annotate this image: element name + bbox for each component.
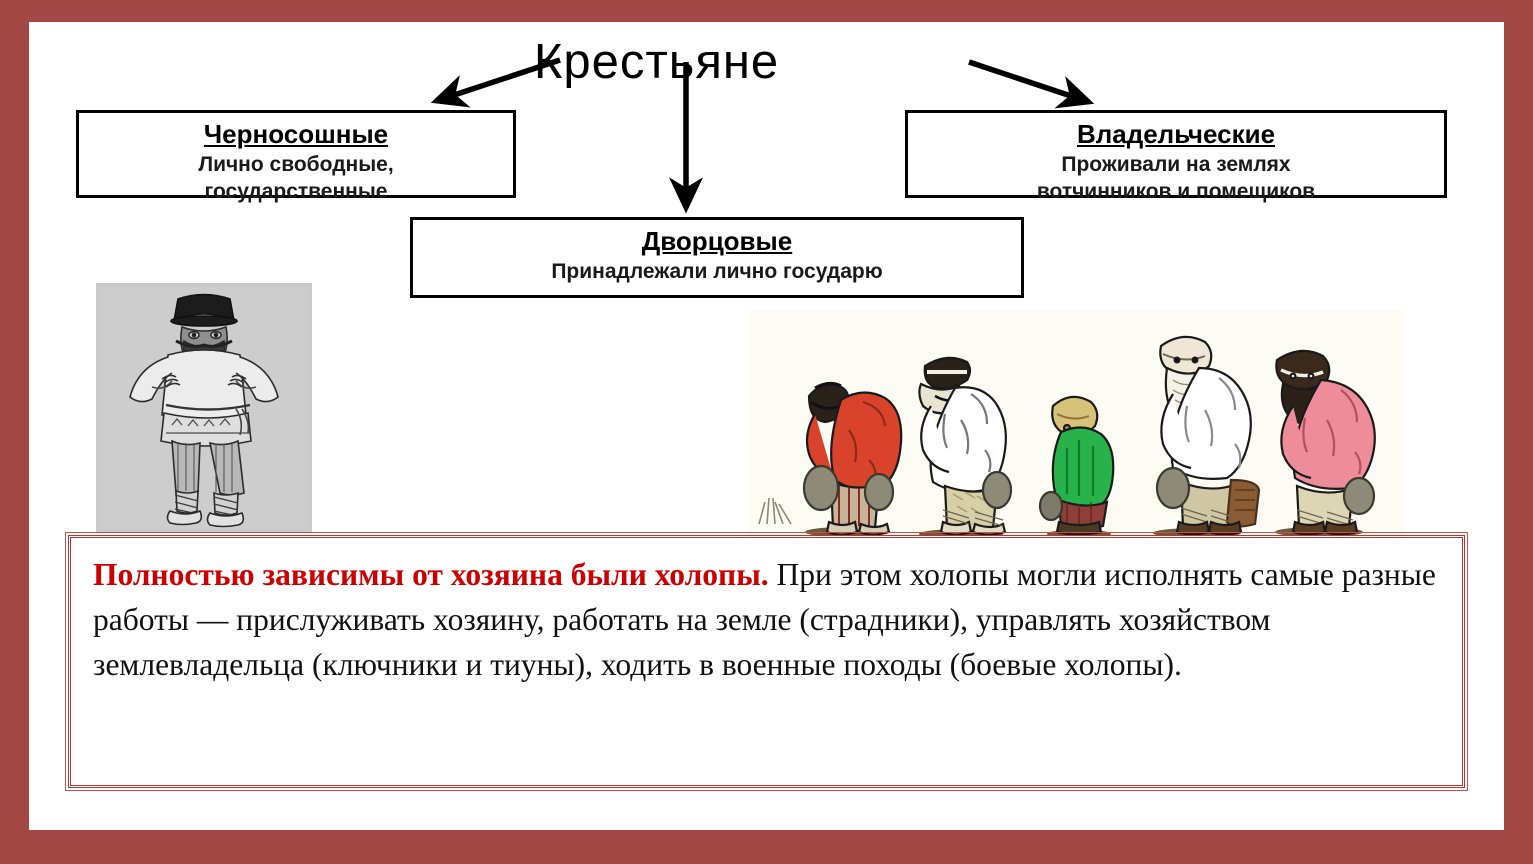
- category-heading: Черносошные: [79, 119, 513, 150]
- page-title-text: Крестьяне: [534, 34, 779, 90]
- category-heading: Дворцовые: [413, 226, 1021, 257]
- engraving-peasant-illustration: [96, 283, 312, 533]
- category-line-1: Принадлежали лично государю: [413, 259, 1021, 285]
- page-title: Крестьяне: [29, 34, 1504, 90]
- category-line-2: вотчинников и помещиков: [908, 179, 1444, 205]
- category-line-2: государственные: [79, 179, 513, 205]
- bowing-peasants-illustration: [749, 310, 1404, 538]
- category-box-vladelcheskie: Владельческие Проживали на землях вотчин…: [905, 110, 1447, 198]
- category-line-1: Проживали на землях: [908, 152, 1444, 178]
- quote-lead-text: Полностью зависимы от хозяина были холоп…: [93, 557, 769, 592]
- category-box-chernososhnye: Черносошные Лично свободные, государстве…: [76, 110, 516, 198]
- category-heading: Владельческие: [908, 119, 1444, 150]
- slide-canvas: Крестьяне Черносошные Лично свободные, г…: [29, 22, 1504, 830]
- bowing-peasants-figures: [749, 310, 1404, 538]
- category-line-1: Лично свободные,: [79, 152, 513, 178]
- engraving-figure: [96, 283, 312, 533]
- category-box-dvortsovye: Дворцовые Принадлежали лично государю: [410, 217, 1024, 298]
- quote-callout-box: Полностью зависимы от хозяина были холоп…: [68, 535, 1465, 788]
- quote-paragraph: Полностью зависимы от хозяина были холоп…: [93, 552, 1440, 687]
